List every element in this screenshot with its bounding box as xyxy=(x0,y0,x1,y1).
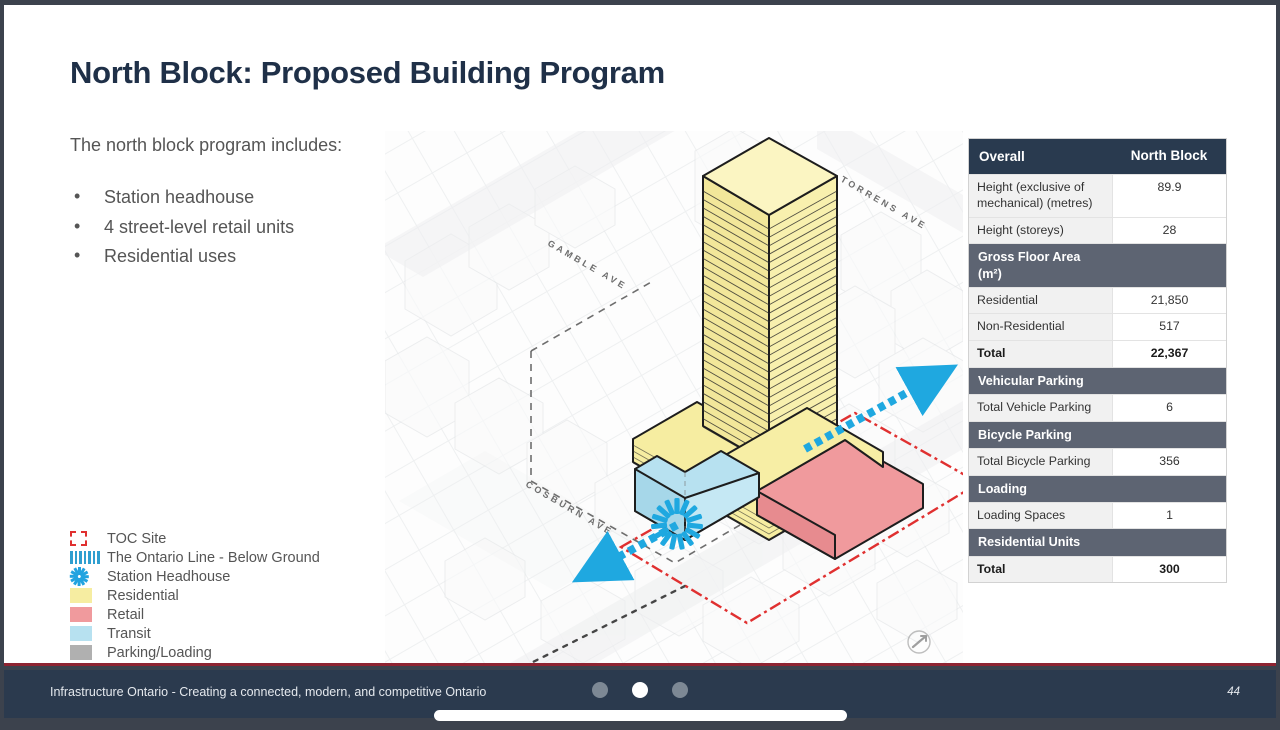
isometric-site-diagram: TORRENS AVE GAMBLE AVE COSBURN AVE PAPE … xyxy=(385,131,963,663)
station-headhouse-icon xyxy=(70,567,107,586)
legend-label: Residential xyxy=(107,588,179,604)
table-cell-value: 1 xyxy=(1112,503,1226,529)
table-cell-label: Vehicular Parking xyxy=(969,368,1112,394)
table-row: Total22,367 xyxy=(969,341,1226,368)
residential-swatch xyxy=(70,588,107,603)
table-cell-value: 89.9 xyxy=(1112,175,1226,216)
accent-divider xyxy=(4,663,1276,666)
table-cell-label: Height (storeys) xyxy=(969,218,1112,244)
legend-label: Transit xyxy=(107,626,151,642)
table-section-row: Residential Units xyxy=(969,529,1226,556)
legend-label: The Ontario Line - Below Ground xyxy=(107,550,320,566)
table-section-row: Loading xyxy=(969,476,1226,503)
legend-item-ontario-line: The Ontario Line - Below Ground xyxy=(70,548,320,567)
legend-item-toc-site: TOC Site xyxy=(70,529,320,548)
table-cell-label: Total xyxy=(969,557,1112,583)
table-row: Loading Spaces1 xyxy=(969,503,1226,530)
table-row: Non-Residential517 xyxy=(969,314,1226,341)
legend-label: TOC Site xyxy=(107,531,166,547)
table-header-row: Overall North Block xyxy=(969,139,1226,175)
table-row: Total Bicycle Parking356 xyxy=(969,449,1226,476)
table-cell-value: 22,367 xyxy=(1112,341,1226,367)
table-cell-label: Height (exclusive of mechanical) (metres… xyxy=(969,175,1112,216)
slide-viewer: North Block: Proposed Building Program T… xyxy=(0,0,1280,730)
ontario-line-icon xyxy=(70,551,107,564)
table-cell-value: 300 xyxy=(1112,557,1226,583)
site-plan-svg: TORRENS AVE GAMBLE AVE COSBURN AVE PAPE … xyxy=(385,131,963,663)
table-cell-label: Total Bicycle Parking xyxy=(969,449,1112,475)
table-cell-label: Total xyxy=(969,341,1112,367)
table-cell-label: Loading xyxy=(969,476,1112,502)
legend-item-parking-loading: Parking/Loading xyxy=(70,643,320,662)
table-row: Total300 xyxy=(969,557,1226,583)
table-cell-label: Residential xyxy=(969,288,1112,314)
pagination-dot[interactable] xyxy=(592,682,608,698)
page-number: 44 xyxy=(1227,686,1240,698)
table-header-overall: Overall xyxy=(969,139,1112,174)
map-legend: TOC Site The Ontario Line - Below Ground… xyxy=(70,529,320,662)
table-cell-value: 517 xyxy=(1112,314,1226,340)
legend-item-station-headhouse: Station Headhouse xyxy=(70,567,320,586)
parking-loading-swatch xyxy=(70,645,107,660)
table-section-row: Bicycle Parking xyxy=(969,422,1226,449)
table-section-row: Vehicular Parking xyxy=(969,368,1226,395)
list-item: Station headhouse xyxy=(70,185,380,211)
legend-item-transit: Transit xyxy=(70,624,320,643)
legend-item-retail: Retail xyxy=(70,605,320,624)
transit-swatch xyxy=(70,626,107,641)
table-header-north-block: North Block xyxy=(1112,139,1226,174)
list-item: 4 street-level retail units xyxy=(70,215,380,241)
table-section-row: Gross Floor Area (m²) xyxy=(969,244,1226,287)
legend-label: Retail xyxy=(107,607,144,623)
table-cell-value xyxy=(1112,476,1226,502)
page-title: North Block: Proposed Building Program xyxy=(70,55,665,91)
table-cell-value xyxy=(1112,368,1226,394)
table-cell-value xyxy=(1112,422,1226,448)
table-cell-value xyxy=(1112,244,1226,286)
table-row: Height (storeys)28 xyxy=(969,218,1226,245)
table-cell-label: Gross Floor Area (m²) xyxy=(969,244,1112,286)
table-row: Residential21,850 xyxy=(969,288,1226,315)
table-cell-value: 21,850 xyxy=(1112,288,1226,314)
pagination-dot[interactable] xyxy=(672,682,688,698)
table-cell-value: 28 xyxy=(1112,218,1226,244)
table-cell-label: Residential Units xyxy=(969,529,1112,555)
pagination-dot-active[interactable] xyxy=(632,682,648,698)
table-cell-label: Total Vehicle Parking xyxy=(969,395,1112,421)
table-cell-value: 6 xyxy=(1112,395,1226,421)
toc-site-icon xyxy=(70,531,107,546)
legend-label: Parking/Loading xyxy=(107,645,212,661)
legend-item-residential: Residential xyxy=(70,586,320,605)
legend-label: Station Headhouse xyxy=(107,569,230,585)
table-cell-value xyxy=(1112,529,1226,555)
table-row: Height (exclusive of mechanical) (metres… xyxy=(969,175,1226,217)
table-row: Total Vehicle Parking6 xyxy=(969,395,1226,422)
slide-canvas: North Block: Proposed Building Program T… xyxy=(4,5,1276,663)
table-cell-value: 356 xyxy=(1112,449,1226,475)
program-bullet-list: Station headhouse 4 street-level retail … xyxy=(70,185,380,274)
retail-swatch xyxy=(70,607,107,622)
slide-pagination-dots[interactable] xyxy=(4,682,1276,698)
list-item: Residential uses xyxy=(70,244,380,270)
building-program-table: Overall North Block Height (exclusive of… xyxy=(968,138,1227,583)
intro-paragraph: The north block program includes: xyxy=(70,133,370,159)
table-cell-label: Bicycle Parking xyxy=(969,422,1112,448)
horizontal-scrollbar[interactable] xyxy=(434,710,847,721)
table-cell-label: Non-Residential xyxy=(969,314,1112,340)
table-cell-label: Loading Spaces xyxy=(969,503,1112,529)
